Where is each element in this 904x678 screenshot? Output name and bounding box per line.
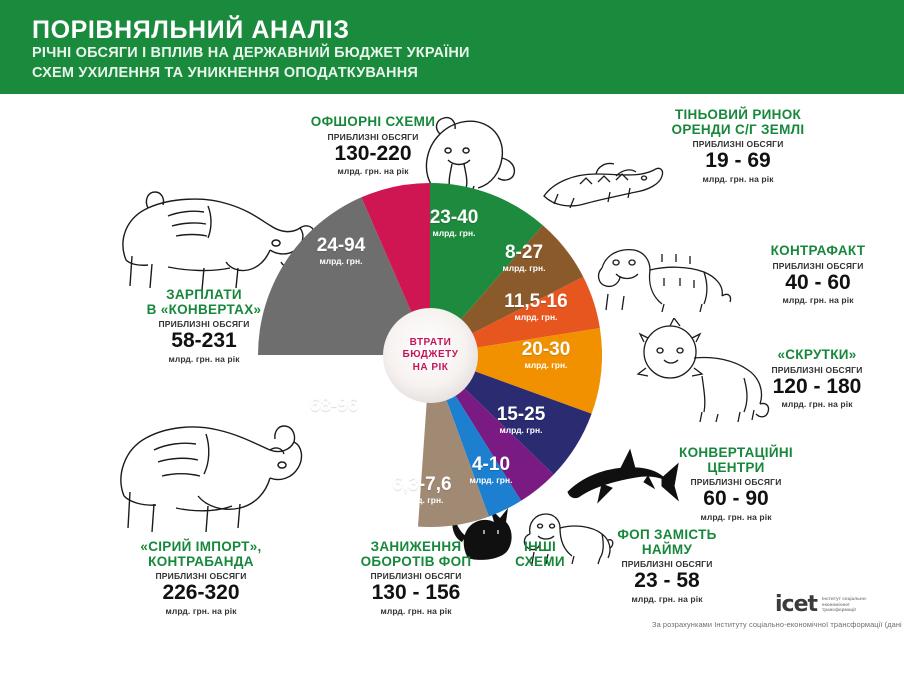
- page-subtitle-line-1: РІЧНІ ОБСЯГИ І ВПЛИВ НА ДЕРЖАВНИЙ БЮДЖЕТ…: [32, 45, 470, 61]
- callout-fop-turnover-caption: ПРИБЛИЗНІ ОБСЯГИ: [330, 572, 502, 581]
- callout-counterfeit-unit: млрд. грн. на рік: [740, 296, 896, 305]
- callout-fop-turnover-value: 130 - 156: [330, 582, 502, 605]
- callout-conversion-centers-unit: млрд. грн. на рік: [646, 513, 826, 522]
- slice-label-fop-turnover: 6,3-7,6 млрд. грн.: [372, 475, 472, 505]
- callout-offshore-title: ОФШОРНІ СХЕМИ: [288, 115, 458, 130]
- tiger-illustration: [592, 232, 732, 314]
- callout-conversion-centers-caption: ПРИБЛИЗНІ ОБСЯГИ: [646, 478, 826, 487]
- callout-envelope-wages-value: 58-231: [116, 330, 292, 353]
- icet-logo[interactable]: icet Інститут соціально- економічної тра…: [775, 592, 882, 617]
- slice-label-skrutky: 20-30 млрд. грн.: [503, 340, 589, 370]
- callout-land-rent-caption: ПРИБЛИЗНІ ОБСЯГИ: [648, 140, 828, 149]
- page-subtitle-line-2: СХЕМ УХИЛЕННЯ ТА УНИКНЕННЯ ОПОДАТКУВАННЯ: [32, 65, 418, 81]
- slice-label-conversion-centers: 15-25 млрд. грн.: [480, 405, 562, 435]
- callout-offshore-unit: млрд. грн. на рік: [288, 167, 458, 176]
- callout-grey-import-value: 226-320: [102, 582, 300, 605]
- callout-fop-instead-of-hire-title: ФОП ЗАМІСТЬ НАЙМУ: [586, 528, 748, 557]
- callout-land-rent-title: ТІНЬОВИЙ РИНОК ОРЕНДИ С/Г ЗЕМЛІ: [648, 108, 828, 137]
- slice-label-envelope-wages: 24-94 млрд. грн.: [298, 236, 384, 266]
- callout-other-schemes[interactable]: ІНШІ СХЕМИ: [494, 540, 586, 569]
- callout-skrutky-title: «СКРУТКИ»: [738, 348, 896, 363]
- hub-line-3: НА РІК: [413, 362, 449, 375]
- header-banner: ПОРІВНЯЛЬНИЙ АНАЛІЗ РІЧНІ ОБСЯГИ І ВПЛИВ…: [0, 0, 904, 94]
- callout-fop-instead-of-hire-value: 23 - 58: [586, 570, 748, 593]
- callout-envelope-wages-title: ЗАРПЛАТИ В «КОНВЕРТАХ»: [116, 288, 292, 317]
- callout-counterfeit-caption: ПРИБЛИЗНІ ОБСЯГИ: [740, 262, 896, 271]
- callout-fop-turnover-title: ЗАНИЖЕННЯ ОБОРОТІВ ФОП: [330, 540, 502, 569]
- callout-fop-turnover[interactable]: ЗАНИЖЕННЯ ОБОРОТІВ ФОП ПРИБЛИЗНІ ОБСЯГИ …: [330, 540, 502, 616]
- callout-grey-import-unit: млрд. грн. на рік: [102, 607, 300, 616]
- slice-label-offshore: 23-40 млрд. грн.: [413, 208, 495, 238]
- icet-logo-subtitle: Інститут соціально- економічної трансфор…: [822, 596, 882, 613]
- slice-label-land-rent: 8-27 млрд. грн.: [486, 243, 562, 273]
- slice-label-grey-import: 68-96 млрд. грн.: [288, 396, 380, 426]
- callout-fop-instead-of-hire-unit: млрд. грн. на рік: [586, 595, 748, 604]
- callout-fop-instead-of-hire-caption: ПРИБЛИЗНІ ОБСЯГИ: [586, 560, 748, 569]
- callout-skrutky-caption: ПРИБЛИЗНІ ОБСЯГИ: [738, 366, 896, 375]
- callout-fop-instead-of-hire[interactable]: ФОП ЗАМІСТЬ НАЙМУ ПРИБЛИЗНІ ОБСЯГИ 23 - …: [586, 528, 748, 604]
- slice-label-counterfeit: 11,5-16 млрд. грн.: [490, 292, 582, 322]
- callout-grey-import[interactable]: «СІРИЙ ІМПОРТ», КОНТРАБАНДА ПРИБЛИЗНІ ОБ…: [102, 540, 300, 616]
- icet-logo-wordmark: icet: [775, 592, 817, 617]
- infographic-root: ПОРІВНЯЛЬНИЙ АНАЛІЗ РІЧНІ ОБСЯГИ І ВПЛИВ…: [0, 0, 904, 678]
- callout-counterfeit[interactable]: КОНТРАФАКТ ПРИБЛИЗНІ ОБСЯГИ 40 - 60 млрд…: [740, 244, 896, 306]
- callout-offshore[interactable]: ОФШОРНІ СХЕМИ ПРИБЛИЗНІ ОБСЯГИ 130-220 м…: [288, 115, 458, 177]
- page-title: ПОРІВНЯЛЬНИЙ АНАЛІЗ: [32, 16, 350, 45]
- callout-conversion-centers-value: 60 - 90: [646, 488, 826, 511]
- callout-skrutky-unit: млрд. грн. на рік: [738, 400, 896, 409]
- callout-land-rent-value: 19 - 69: [648, 150, 828, 173]
- callout-land-rent[interactable]: ТІНЬОВИЙ РИНОК ОРЕНДИ С/Г ЗЕМЛІ ПРИБЛИЗН…: [648, 108, 828, 184]
- callout-land-rent-unit: млрд. грн. на рік: [648, 175, 828, 184]
- source-note: За розрахунками Інституту соціально-екон…: [652, 620, 904, 629]
- callout-envelope-wages-unit: млрд. грн. на рік: [116, 355, 292, 364]
- icet-logo-subtitle-line-2: економічної трансформації: [822, 602, 882, 613]
- callout-fop-turnover-unit: млрд. грн. на рік: [330, 607, 502, 616]
- callout-grey-import-title: «СІРИЙ ІМПОРТ», КОНТРАБАНДА: [102, 540, 300, 569]
- callout-envelope-wages[interactable]: ЗАРПЛАТИ В «КОНВЕРТАХ» ПРИБЛИЗНІ ОБСЯГИ …: [116, 288, 292, 364]
- hub-line-2: БЮДЖЕТУ: [403, 349, 459, 362]
- callout-offshore-caption: ПРИБЛИЗНІ ОБСЯГИ: [288, 133, 458, 142]
- callout-other-schemes-title: ІНШІ СХЕМИ: [494, 540, 586, 569]
- pie-center-hub: ВТРАТИ БЮДЖЕТУ НА РІК: [383, 308, 478, 403]
- callout-offshore-value: 130-220: [288, 143, 458, 166]
- hub-line-1: ВТРАТИ: [410, 337, 452, 350]
- callout-conversion-centers[interactable]: КОНВЕРТАЦІЙНІ ЦЕНТРИ ПРИБЛИЗНІ ОБСЯГИ 60…: [646, 446, 826, 522]
- callout-skrutky[interactable]: «СКРУТКИ» ПРИБЛИЗНІ ОБСЯГИ 120 - 180 млр…: [738, 348, 896, 410]
- callout-grey-import-caption: ПРИБЛИЗНІ ОБСЯГИ: [102, 572, 300, 581]
- callout-counterfeit-value: 40 - 60: [740, 272, 896, 295]
- callout-envelope-wages-caption: ПРИБЛИЗНІ ОБСЯГИ: [116, 320, 292, 329]
- callout-skrutky-value: 120 - 180: [738, 376, 896, 399]
- callout-conversion-centers-title: КОНВЕРТАЦІЙНІ ЦЕНТРИ: [646, 446, 826, 475]
- callout-counterfeit-title: КОНТРАФАКТ: [740, 244, 896, 259]
